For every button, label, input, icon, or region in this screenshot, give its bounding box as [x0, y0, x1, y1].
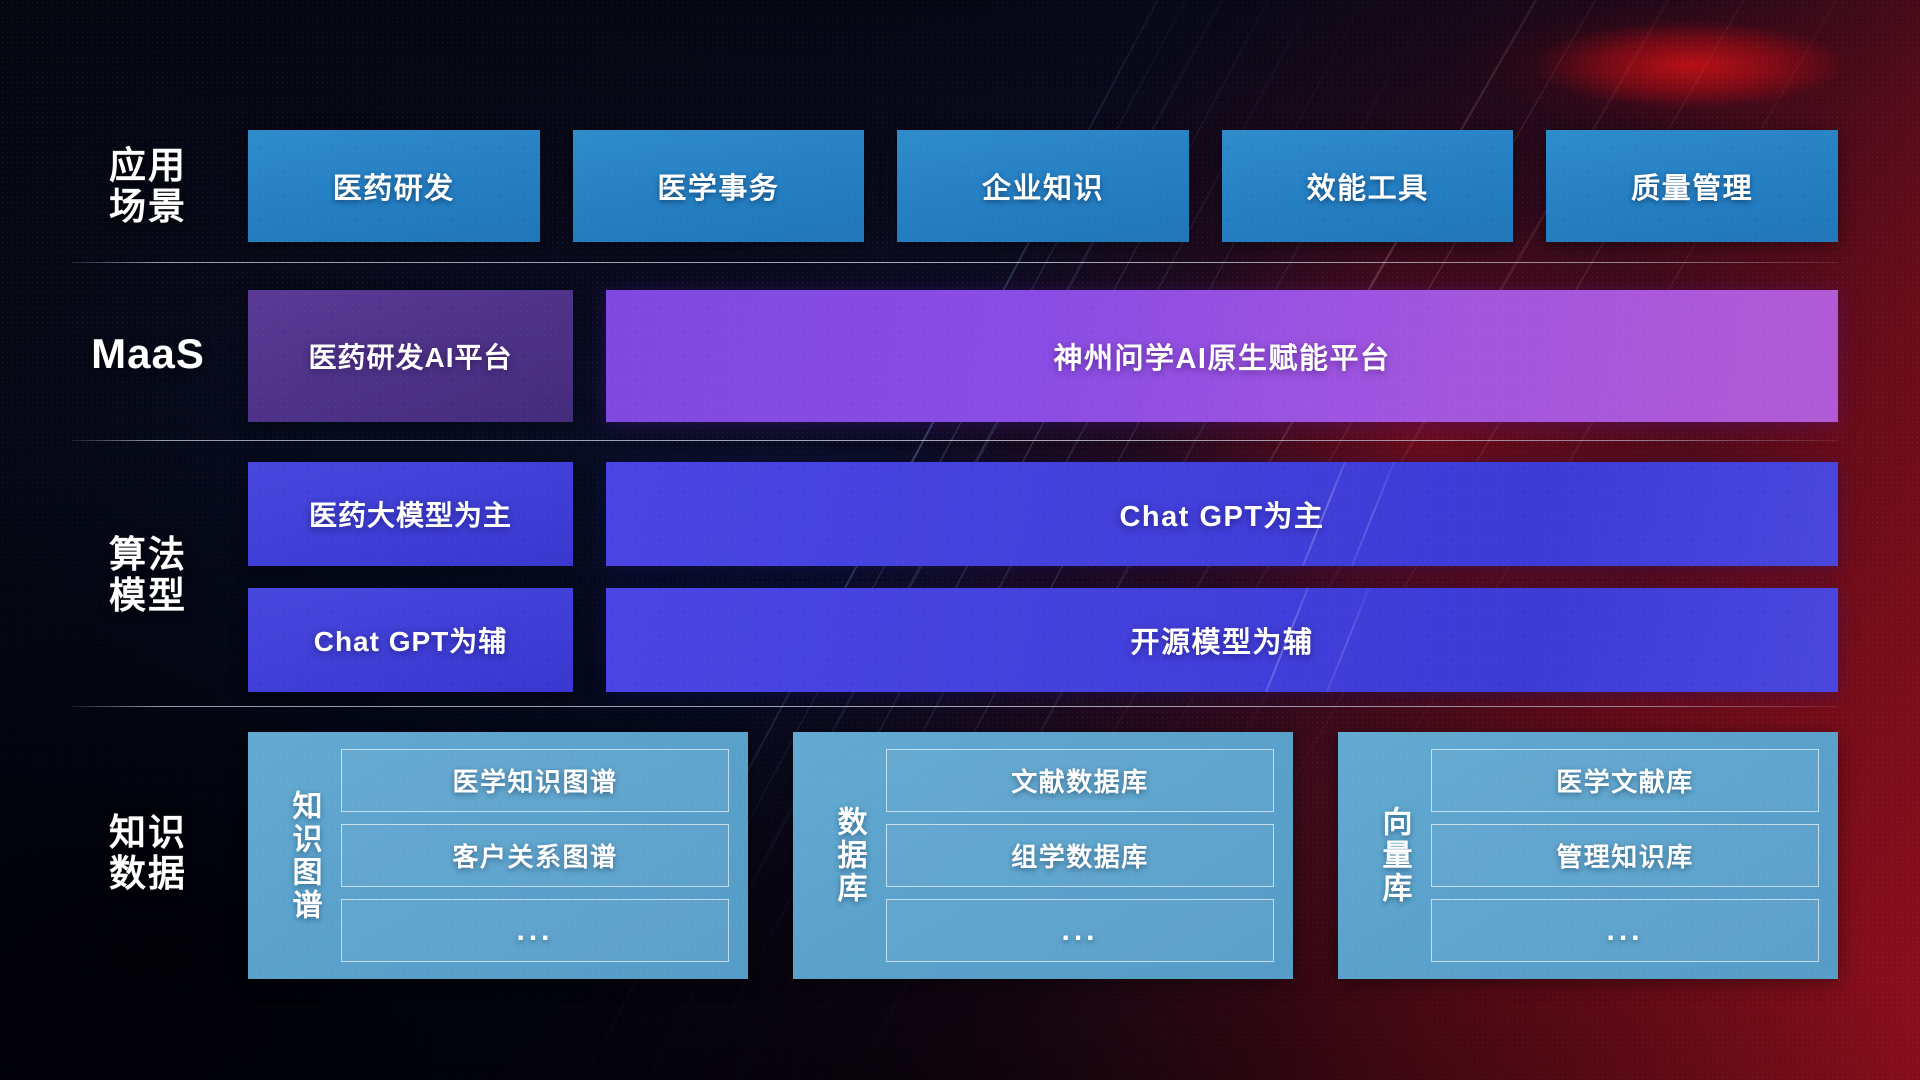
knowledge-item-more[interactable]: ...: [886, 899, 1274, 962]
divider-line-2: [72, 440, 1838, 441]
streak-decoration: [1333, 462, 1409, 566]
knowledge-data-row: 知识图谱 医学知识图谱 客户关系图谱 ... 数据库 文献数据库 组学数据库 .…: [248, 732, 1838, 979]
algo-card-chatgpt-secondary[interactable]: Chat GPT为辅: [248, 588, 573, 692]
knowledge-item-more[interactable]: ...: [341, 899, 729, 962]
app-card-efficiency-tools[interactable]: 效能工具: [1222, 130, 1514, 242]
app-card-label: 医药研发: [333, 165, 455, 207]
knowledge-item[interactable]: 管理知识库: [1431, 824, 1819, 887]
algo-card-label: Chat GPT为主: [1119, 493, 1324, 535]
knowledge-panel-vector-store[interactable]: 向量库 医学文献库 管理知识库 ...: [1338, 732, 1838, 979]
app-card-label: 效能工具: [1307, 165, 1429, 207]
knowledge-item-list: 医学文献库 管理知识库 ...: [1431, 749, 1819, 962]
application-scenario-row: 医药研发 医学事务 企业知识 效能工具 质量管理: [248, 130, 1838, 242]
algorithm-model-row: 医药大模型为主 Chat GPT为主 Chat GPT为辅 开源模型为辅: [248, 462, 1838, 692]
divider-line-1: [72, 262, 1838, 263]
app-card-quality-management[interactable]: 质量管理: [1546, 130, 1838, 242]
divider-line-3: [72, 706, 1838, 707]
knowledge-panel-title: 知识图谱: [267, 749, 341, 962]
knowledge-item[interactable]: 文献数据库: [886, 749, 1274, 812]
streak-decoration: [1308, 588, 1384, 692]
knowledge-panel-title: 数据库: [812, 749, 886, 962]
algo-card-label: 开源模型为辅: [1130, 619, 1313, 661]
app-card-medical-affairs[interactable]: 医学事务: [573, 130, 865, 242]
row-label-applications: 应用场景: [78, 145, 218, 228]
algo-card-pharma-llm-primary[interactable]: 医药大模型为主: [248, 462, 573, 566]
knowledge-item[interactable]: 医学知识图谱: [341, 749, 729, 812]
maas-card-label: 医药研发AI平台: [308, 336, 512, 376]
row-label-knowledge-data: 知识数据: [78, 812, 218, 895]
maas-card-shenzhou-wenxue-platform[interactable]: 神州问学AI原生赋能平台: [606, 290, 1838, 422]
knowledge-panel-knowledge-graph[interactable]: 知识图谱 医学知识图谱 客户关系图谱 ...: [248, 732, 748, 979]
knowledge-item[interactable]: 组学数据库: [886, 824, 1274, 887]
knowledge-item[interactable]: 医学文献库: [1431, 749, 1819, 812]
knowledge-panel-database[interactable]: 数据库 文献数据库 组学数据库 ...: [793, 732, 1293, 979]
algo-card-chatgpt-primary[interactable]: Chat GPT为主: [606, 462, 1838, 566]
knowledge-item-list: 文献数据库 组学数据库 ...: [886, 749, 1274, 962]
maas-card-label: 神州问学AI原生赋能平台: [1053, 335, 1390, 377]
app-card-enterprise-knowledge[interactable]: 企业知识: [897, 130, 1189, 242]
knowledge-item-list: 医学知识图谱 客户关系图谱 ...: [341, 749, 729, 962]
app-card-label: 企业知识: [982, 165, 1104, 207]
algorithm-model-line-secondary: Chat GPT为辅 开源模型为辅: [248, 588, 1838, 692]
algo-card-label: Chat GPT为辅: [314, 620, 508, 660]
algo-card-label: 医药大模型为主: [309, 494, 512, 534]
algo-card-opensource-secondary[interactable]: 开源模型为辅: [606, 588, 1838, 692]
knowledge-item[interactable]: 客户关系图谱: [341, 824, 729, 887]
app-card-drug-rd[interactable]: 医药研发: [248, 130, 540, 242]
maas-row: 医药研发AI平台 神州问学AI原生赋能平台: [248, 290, 1838, 422]
knowledge-item-more[interactable]: ...: [1431, 899, 1819, 962]
app-card-label: 质量管理: [1631, 165, 1753, 207]
maas-card-drug-rd-ai-platform[interactable]: 医药研发AI平台: [248, 290, 573, 422]
architecture-diagram: 应用场景 MaaS 算法模型 知识数据 医药研发 医学事务 企业知识 效能工具 …: [0, 0, 1920, 1080]
knowledge-panel-title: 向量库: [1357, 749, 1431, 962]
row-label-maas: MaaS: [78, 330, 218, 377]
app-card-label: 医学事务: [657, 165, 779, 207]
algorithm-model-line-primary: 医药大模型为主 Chat GPT为主: [248, 462, 1838, 566]
row-label-algorithm-models: 算法模型: [78, 534, 218, 617]
